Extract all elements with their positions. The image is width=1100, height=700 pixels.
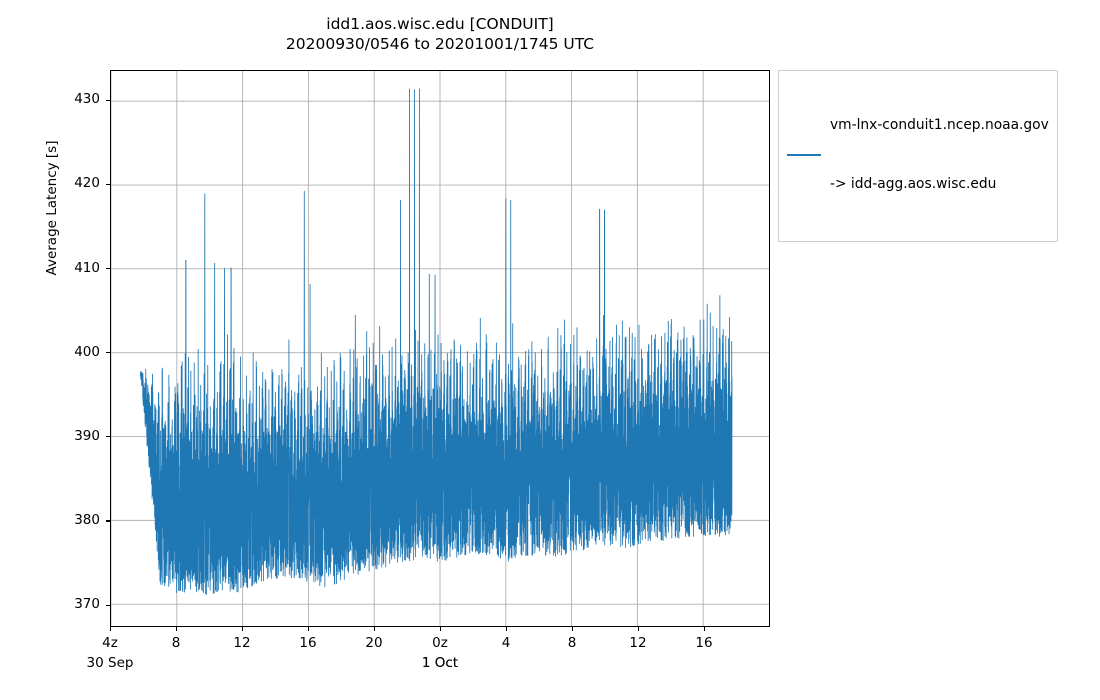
figure-canvas: idd1.aos.wisc.edu [CONDUIT] 20200930/054… (0, 0, 1100, 700)
legend-color-swatch (787, 154, 821, 156)
legend-label-line1: vm-lnx-conduit1.ncep.noaa.gov (830, 116, 1049, 136)
y-axis-label: Average Latency [s] (44, 108, 60, 308)
chart-title: idd1.aos.wisc.edu [CONDUIT] (110, 14, 770, 34)
legend: vm-lnx-conduit1.ncep.noaa.gov -> idd-agg… (778, 70, 1058, 242)
x-tick-mark (704, 627, 705, 631)
y-tick-mark (106, 436, 110, 437)
x-tick-label: 4 (502, 635, 511, 651)
x-tick-mark (374, 627, 375, 631)
y-tick-label: 430 (40, 91, 100, 107)
x-tick-label: 8 (172, 635, 181, 651)
x-tick-mark (572, 627, 573, 631)
x-tick-mark (110, 627, 111, 631)
x-tick-mark (308, 627, 309, 631)
x-tick-mark (638, 627, 639, 631)
x-tick-label: 12 (233, 635, 250, 651)
plot-area (110, 70, 770, 627)
chart-subtitle: 20200930/0546 to 20201001/1745 UTC (110, 34, 770, 54)
x-tick-mark (242, 627, 243, 631)
x-tick-label: 8 (568, 635, 577, 651)
x-tick-label: 12 (629, 635, 646, 651)
x-tick-label: 4z (102, 635, 118, 651)
latency-trace (140, 89, 732, 595)
legend-label: vm-lnx-conduit1.ncep.noaa.gov -> idd-agg… (830, 77, 1049, 234)
y-tick-mark (106, 100, 110, 101)
chart-title-block: idd1.aos.wisc.edu [CONDUIT] 20200930/054… (110, 14, 770, 54)
x-tick-mark (506, 627, 507, 631)
y-tick-mark (106, 352, 110, 353)
x-tick-label: 16 (299, 635, 316, 651)
x-tick-mark (176, 627, 177, 631)
y-tick-mark (106, 268, 110, 269)
legend-label-line2: -> idd-agg.aos.wisc.edu (830, 175, 1049, 195)
y-tick-mark (106, 520, 110, 521)
x-tick-label: 16 (695, 635, 712, 651)
x-tick-label: 20 (365, 635, 382, 651)
series-vm-lnx-conduit1-to-idd-agg (111, 71, 769, 626)
x-axis-label: 1 Oct (110, 655, 770, 671)
y-tick-label: 380 (40, 512, 100, 528)
x-tick-label: 0z (432, 635, 448, 651)
x-tick-mark (440, 627, 441, 631)
y-tick-label: 390 (40, 428, 100, 444)
y-tick-label: 400 (40, 344, 100, 360)
y-tick-label: 370 (40, 596, 100, 612)
y-tick-mark (106, 184, 110, 185)
y-tick-mark (106, 605, 110, 606)
